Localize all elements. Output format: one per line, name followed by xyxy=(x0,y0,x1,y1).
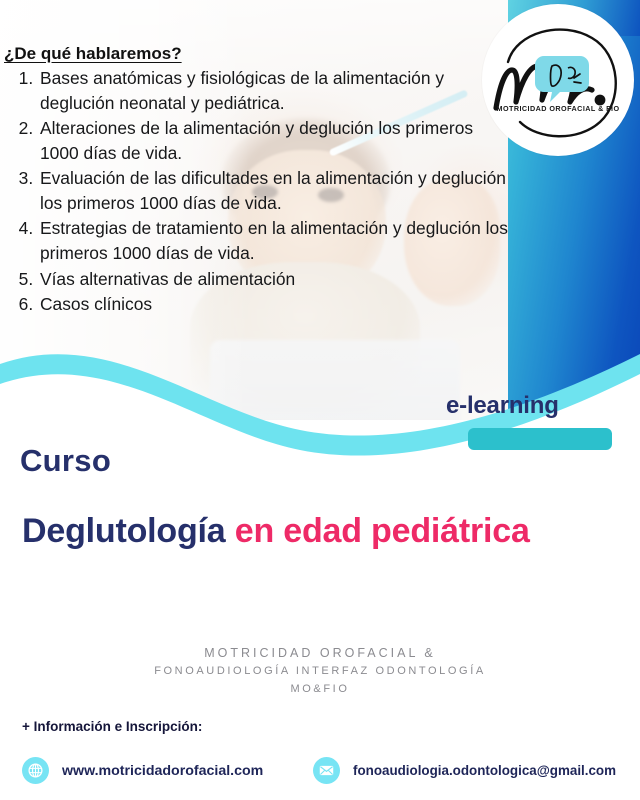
website-url[interactable]: www.motricidadorofacial.com xyxy=(62,763,263,779)
course-kicker: Curso xyxy=(20,443,111,479)
globe-icon xyxy=(22,757,49,784)
page-title: Deglutología en edad pediátrica xyxy=(22,512,622,551)
elearning-badge-label: e-learning xyxy=(446,392,559,420)
title-part-dark: Deglutología xyxy=(22,512,225,550)
list-item: Vías alternativas de alimentación xyxy=(38,267,514,292)
organization-line-2: FONOAUDIOLOGÍA INTERFAZ ODONTOLOGÍA xyxy=(0,663,640,681)
list-item: Evaluación de las dificultades en la ali… xyxy=(38,166,514,216)
title-part-accent: en edad pediátrica xyxy=(225,512,529,550)
envelope-icon xyxy=(313,757,340,784)
elearning-accent-bar xyxy=(468,428,612,450)
list-item: Estrategias de tratamiento en la aliment… xyxy=(38,216,514,266)
list-item: Alteraciones de la alimentación y degluc… xyxy=(38,116,514,166)
poster-root: MOTRICIDAD OROFACIAL & FIO ¿De qué habla… xyxy=(0,0,640,800)
topics-heading: ¿De qué hablaremos? xyxy=(4,44,182,64)
topics-list: Bases anatómicas y fisiológicas de la al… xyxy=(12,66,514,317)
organization-block: MOTRICIDAD OROFACIAL & FONOAUDIOLOGÍA IN… xyxy=(0,644,640,699)
contact-website[interactable]: www.motricidadorofacial.com xyxy=(22,757,263,784)
list-item: Casos clínicos xyxy=(38,292,514,317)
organization-line-1: MOTRICIDAD OROFACIAL & xyxy=(0,644,640,663)
list-item: Bases anatómicas y fisiológicas de la al… xyxy=(38,66,514,116)
email-address[interactable]: fonoaudiologia.odontologica@gmail.com xyxy=(353,763,616,778)
organization-line-3: MO&FIO xyxy=(0,681,640,699)
footer-cta: + Información e Inscripción: xyxy=(22,719,202,734)
contact-email[interactable]: fonoaudiologia.odontologica@gmail.com xyxy=(313,757,616,784)
